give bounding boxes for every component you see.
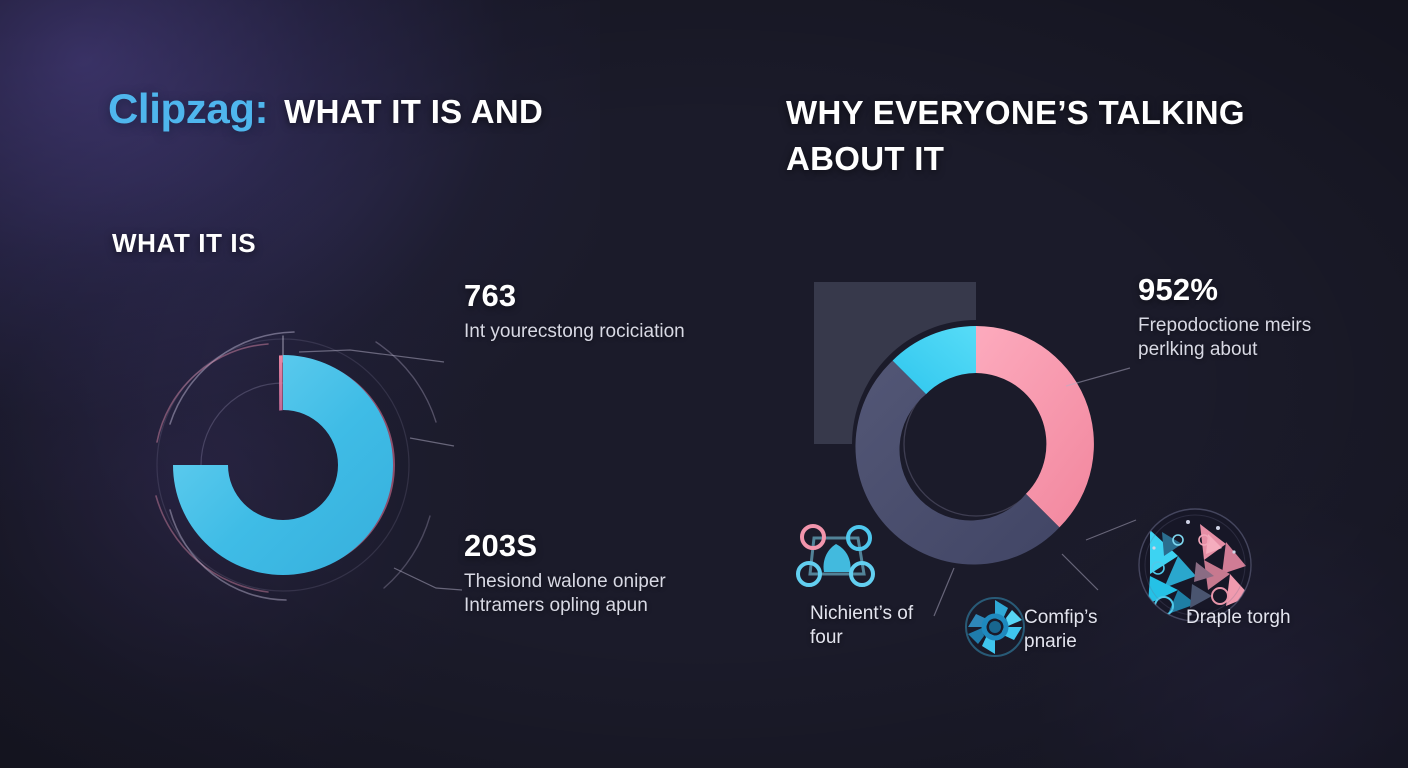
callout-value: 952% <box>1138 272 1338 308</box>
section-title-what-it-is: WHAT IT IS <box>112 228 256 259</box>
mini-item-label: Nichient’s of four <box>810 602 930 651</box>
callout-value: 763 <box>464 278 689 314</box>
network-nodes-icon <box>794 516 878 596</box>
mini-item-label: Comfip’s pnarie <box>1024 606 1134 655</box>
callout-right-1: 952% Frepodoctione meirs perlking about <box>1138 272 1338 363</box>
callout-description: Thesiond walone oniper Intramers opling … <box>464 570 689 619</box>
headline-left-text: WHAT IT IS AND <box>284 93 543 130</box>
callout-value: 203S <box>464 528 689 564</box>
donut-start-sliver <box>279 355 283 410</box>
infographic-canvas: Clipzag:WHAT IT IS AND WHY EVERYONE’S TA… <box>0 0 1408 768</box>
headline-right-text: WHY EVERYONE’S TALKING ABOUT IT <box>786 90 1306 181</box>
mini-items-row: Nichient’s of four Comfip’s pnarie <box>786 498 1326 678</box>
donut-segment-763 <box>173 355 393 575</box>
chart-what-it-is-donut <box>118 300 448 630</box>
brand-name: Clipzag: <box>108 85 268 132</box>
callout-left-2: 203S Thesiond walone oniper Intramers op… <box>464 528 689 619</box>
mini-item-label: Draple torgh <box>1186 606 1296 630</box>
callout-description: Frepodoctione meirs perlking about <box>1138 314 1338 363</box>
pinwheel-icon <box>964 596 1026 658</box>
callout-description: Int yourecstong rociciation <box>464 320 689 344</box>
callout-left-1: 763 Int yourecstong rociciation <box>464 278 689 344</box>
